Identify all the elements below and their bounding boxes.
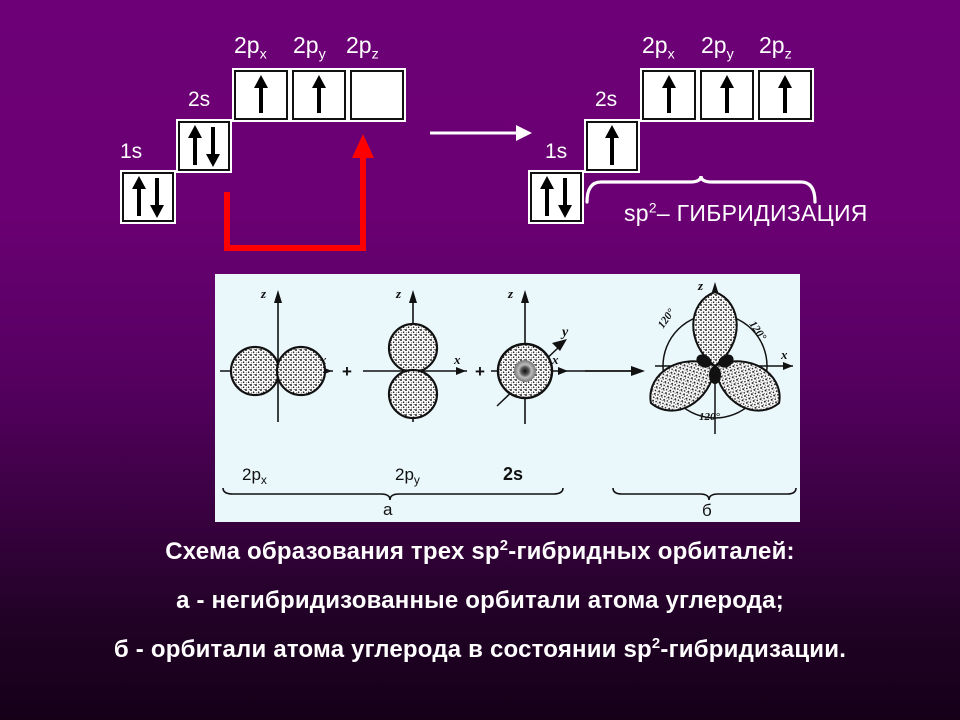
orbital-2s-shape: z y x [491,286,585,424]
orbital-box-2s-right [584,119,640,173]
plus-sign-1: + [342,362,352,381]
svg-text:z: z [507,286,514,301]
orbital-2px-shape: z x [220,286,333,422]
brace-a-icon [223,488,563,500]
label-1s-left: 1s [120,140,142,164]
orbital-box-2py-right [698,68,756,122]
angle-label-120-left: 120° [656,306,678,330]
electron-arrow-up [719,75,735,115]
orbital-box-2pz-right [756,68,814,122]
svg-text:x: x [780,347,788,362]
orbital-box-2pz-left [348,68,406,122]
plus-sign-2: + [475,362,485,381]
hybridization-label: sp2– ГИБРИДИЗАЦИЯ [624,200,868,227]
orbital-shapes-panel: z x + z x + [215,274,800,522]
svg-text:z: z [697,278,704,293]
orbital-box-1s-right [528,170,584,224]
electron-arrow-down [149,176,165,218]
orbital-box-2px-left [232,68,290,122]
svg-text:z: z [260,286,267,301]
orbital-box-2px-right [640,68,698,122]
orbital-box-2s-left [176,119,232,173]
electron-arrow-up [131,176,147,218]
label-2py-right: 2py [701,32,734,63]
electron-arrow-up [661,75,677,115]
electron-arrow-up [777,75,793,115]
panel-label-2s: 2s [503,464,523,484]
process-arrow-icon [428,118,538,148]
electron-arrow-up [539,176,555,218]
electron-arrow-up [311,75,327,115]
label-2s-left: 2s [188,88,210,112]
label-2pz-left: 2pz [346,32,379,63]
orbital-shapes-svg: z x + z x + [215,274,800,522]
panel-label-2px: 2px [242,465,267,487]
slide-root: 2px 2py 2pz 2s 1s [0,0,960,720]
sp2-hybrid-orbitals-shape: z x 120° 120° 120° [640,278,793,434]
panel-transition-arrow [585,366,645,376]
angle-label-120-bottom: 120° [699,411,721,423]
panel-label-a: a [383,500,393,519]
caption-line-2: а - негибридизованные орбитали атома угл… [0,587,960,615]
caption-line-3: б - орбитали атома углерода в состоянии … [0,636,960,664]
panel-label-b: б [702,501,712,520]
orbital-box-2py-left [290,68,348,122]
electron-arrow-down [205,125,221,167]
electron-arrow-up [604,125,620,167]
label-2px-left: 2px [234,32,267,63]
label-2px-right: 2px [642,32,675,63]
label-2s-right: 2s [595,88,617,112]
electron-arrow-up [253,75,269,115]
caption-line-1: Схема образования трех sp2-гибридных орб… [0,538,960,566]
electron-arrow-up [187,125,203,167]
panel-label-2py: 2py [395,465,420,487]
label-2py-left: 2py [293,32,326,63]
electron-arrow-down [557,176,573,218]
orbital-box-1s-left [120,170,176,224]
orbital-2py-shape: z x [363,286,467,422]
svg-text:x: x [453,352,461,367]
svg-text:y: y [560,325,569,340]
label-2pz-right: 2pz [759,32,792,63]
angle-label-120-right: 120° [747,319,769,343]
svg-text:z: z [395,286,402,301]
brace-b-icon [613,488,796,500]
label-1s-right: 1s [545,140,567,164]
